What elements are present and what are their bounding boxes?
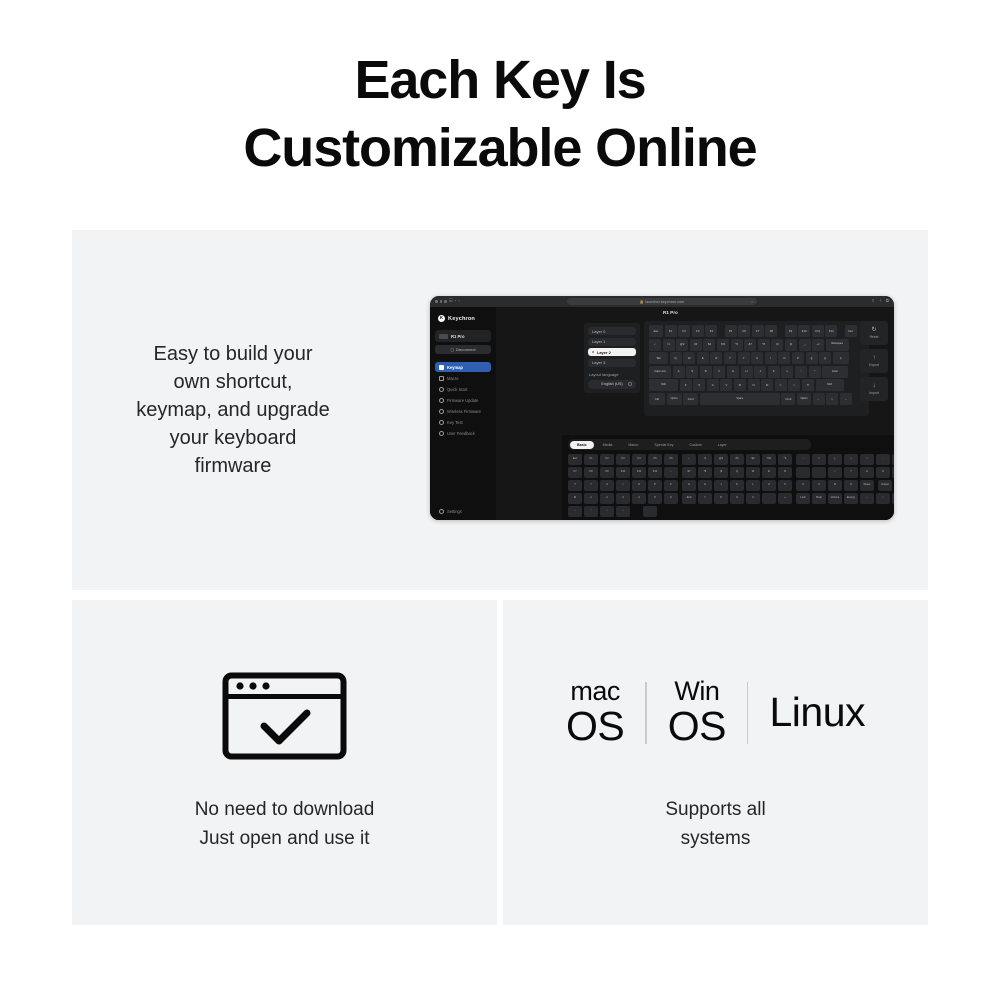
os-macos-top: mac	[570, 678, 620, 705]
keycap[interactable]: F7	[752, 325, 764, 337]
device-name: R1 Pro	[451, 334, 465, 339]
picker-key[interactable]: F11	[632, 467, 646, 478]
keycap[interactable]: Shift	[649, 379, 678, 391]
keycap[interactable]: C	[707, 379, 719, 391]
picker-key[interactable]: Q	[730, 467, 744, 478]
firmware-update-icon	[439, 398, 444, 403]
keycap[interactable]: Space	[700, 393, 780, 405]
sidebar-item-label: Settings	[447, 509, 462, 514]
disconnect-label: Disconnect	[456, 347, 476, 352]
os-windows: Win OS	[668, 678, 726, 747]
action-label: Reset	[870, 335, 879, 339]
sidebar-item-label: Firmware Update	[447, 398, 478, 403]
picker-key[interactable]: ↑	[876, 493, 890, 504]
sidebar-item-label: User Feedback	[447, 431, 475, 436]
keycap[interactable]: {[	[806, 352, 818, 364]
gear-icon	[439, 509, 444, 514]
page-root: Each Key Is Customizable Online Easy to …	[0, 0, 1000, 1000]
export-icon: ↑	[873, 355, 876, 361]
share-icon[interactable]: ⇧	[871, 299, 875, 304]
keycap[interactable]: #3	[690, 339, 702, 351]
picker-key[interactable]: Lock	[796, 493, 810, 504]
key-picker-panel: BasicMediaMacroSpecial KeyCustomLayer Es…	[562, 435, 894, 520]
sidebar-item-wireless-firmware[interactable]: Wireless Firmware	[435, 406, 491, 416]
picker-key[interactable]: L	[746, 480, 760, 491]
picker-key[interactable]: =	[812, 454, 826, 465]
picker-key[interactable]: N	[844, 480, 858, 491]
keycap[interactable]: *8	[758, 339, 770, 351]
keycap[interactable]: F	[713, 366, 725, 378]
picker-row: M123456End7890.+LockMuteVolumeEnergy←↑→	[568, 493, 888, 504]
keycap[interactable]: J	[754, 366, 766, 378]
sidebar-item-keymap[interactable]: Keymap	[435, 362, 491, 372]
keyboard-row: EscF1F2F3F4F5F6F7F8F9F10F11F12Del	[649, 325, 864, 337]
window-close-icon[interactable]	[435, 300, 438, 303]
key-test-icon	[439, 420, 444, 425]
picker-group: TYUIOPF	[568, 480, 678, 491]
picker-key[interactable]: ~`	[682, 454, 696, 465]
picker-group: M123456	[568, 493, 678, 504]
page-title-line2: Customizable Online	[0, 114, 1000, 182]
keycap[interactable]: >.	[788, 379, 800, 391]
picker-key[interactable]: V	[812, 480, 826, 491]
caption-line: systems	[503, 824, 928, 853]
picker-key[interactable]: $4	[746, 454, 760, 465]
tabs-overview-icon[interactable]: ⧉	[886, 299, 889, 304]
os-windows-bottom: OS	[668, 706, 726, 747]
picker-key[interactable]: ^6	[778, 454, 792, 465]
keycap[interactable]: <,	[775, 379, 787, 391]
top-card-copy-line: Easy to build your	[88, 340, 378, 368]
picker-key[interactable]: 7	[698, 493, 712, 504]
keycap[interactable]: E	[697, 352, 709, 364]
keycap[interactable]: F6	[738, 325, 750, 337]
picker-key[interactable]: A	[860, 467, 874, 478]
picker-key[interactable]: F4	[632, 454, 646, 465]
plug-icon: ◻	[450, 348, 453, 352]
picker-key[interactable]: H	[698, 480, 712, 491]
browser-window-controls[interactable]: ☰ ‹ ›	[435, 299, 460, 304]
keycap[interactable]: Ctrl	[649, 393, 665, 405]
picker-key[interactable]: ←	[664, 467, 678, 478]
picker-key[interactable]: F2	[600, 454, 614, 465]
new-tab-icon[interactable]: +	[879, 299, 882, 304]
keycap[interactable]: ?/	[802, 379, 814, 391]
reset-icon: ↻	[871, 327, 876, 333]
keycap[interactable]: @2	[676, 339, 688, 351]
key-picker-grid: EscF1F2F3F4F5F6~`!1@2#3$4%5^6-=[]\;'InsP…	[568, 454, 888, 517]
picker-key[interactable]: -	[796, 454, 810, 465]
chevron-down-icon	[628, 382, 632, 386]
keycap[interactable]: &7	[744, 339, 756, 351]
picker-key[interactable]: ?	[844, 467, 858, 478]
keycap[interactable]: D	[700, 366, 712, 378]
caption-line: Just open and use it	[72, 824, 497, 853]
keycap[interactable]: Enter	[822, 366, 848, 378]
keycap[interactable]: H	[741, 366, 753, 378]
picker-group: ←↑↓→	[568, 506, 630, 517]
picker-group: &7*8(9QWER	[682, 467, 792, 478]
picker-key[interactable]: Energy	[844, 493, 858, 504]
picker-key[interactable]: %5	[762, 454, 776, 465]
sidebar-item-macro[interactable]: Macro	[435, 373, 491, 383]
picker-tab-basic[interactable]: Basic	[570, 441, 594, 449]
picker-key[interactable]: #3	[730, 454, 744, 465]
layer-label: Layer 1	[592, 339, 605, 344]
forward-icon[interactable]: ›	[458, 299, 460, 304]
picker-group: LockMuteVolumeEnergy←↑→	[796, 493, 894, 504]
picker-key[interactable]: F6	[664, 454, 678, 465]
picker-tab-custom[interactable]: Custom	[682, 441, 708, 449]
keycap[interactable]: Q	[670, 352, 682, 364]
layout-language-select[interactable]: English (US)	[588, 380, 636, 389]
os-macos-bottom: OS	[566, 706, 624, 747]
keycap[interactable]: F2	[678, 325, 690, 337]
picker-key[interactable]: X	[778, 480, 792, 491]
action-label: Export	[869, 363, 879, 367]
picker-key[interactable]: ←	[860, 493, 874, 504]
back-icon[interactable]: ‹	[455, 299, 457, 304]
os-macos: mac OS	[566, 678, 624, 747]
keycap[interactable]: F4	[705, 325, 717, 337]
picker-key[interactable]: .	[762, 493, 776, 504]
keycap[interactable]: F11	[812, 325, 824, 337]
picker-key[interactable]: &7	[682, 467, 696, 478]
picker-key[interactable]: 4	[632, 493, 646, 504]
top-card-copy-line: keymap, and upgrade	[88, 396, 378, 424]
keycap[interactable]: M	[761, 379, 773, 391]
picker-key[interactable]: D	[892, 467, 894, 478]
key-gap	[719, 325, 723, 337]
browser-window-check-icon	[222, 672, 347, 760]
keycap[interactable]: Y	[738, 352, 750, 364]
picker-key[interactable]: F5	[648, 454, 662, 465]
user-feedback-icon	[439, 431, 444, 436]
keycap[interactable]: O	[778, 352, 790, 364]
keycap[interactable]: "'	[809, 366, 821, 378]
keycap[interactable]: Del	[845, 325, 857, 337]
app-body: K Keychron R1 Pro ◻ Disconnect KeymapMac…	[430, 307, 894, 520]
keycap[interactable]: F1	[665, 325, 677, 337]
sidebar-item-key-test[interactable]: Key Test	[435, 417, 491, 427]
bookmark-icon[interactable]: ☆	[751, 300, 754, 304]
sidebar-item-user-feedback[interactable]: User Feedback	[435, 428, 491, 438]
picker-key[interactable]: F8	[584, 467, 598, 478]
keycap[interactable]: %5	[717, 339, 729, 351]
picker-key[interactable]: 3	[616, 493, 630, 504]
keycap[interactable]: +=	[812, 339, 824, 351]
picker-key[interactable]: 1	[584, 493, 598, 504]
picker-key[interactable]: ←	[568, 506, 582, 517]
picker-key[interactable]: K	[730, 480, 744, 491]
picker-key[interactable]: ↓	[600, 506, 614, 517]
picker-key[interactable]: Y	[584, 480, 598, 491]
picker-tab-layer[interactable]: Layer	[711, 441, 734, 449]
sidebar-item-label: Macro	[447, 376, 458, 381]
keycap[interactable]: Shift	[816, 379, 844, 391]
reset-button[interactable]: ↻Reset	[860, 321, 888, 345]
layout-language-label: Layout language	[589, 372, 636, 377]
picker-group: F7F8F9F10F11F12←	[568, 467, 678, 478]
os-windows-top: Win	[674, 678, 719, 705]
picker-key[interactable]: 0	[746, 493, 760, 504]
keyboard-row: ShiftZXCVBNM<,>.?/Shift	[649, 379, 864, 391]
layer-button-1[interactable]: Layer 1	[588, 338, 636, 346]
keycap[interactable]: )0	[785, 339, 797, 351]
keycap[interactable]: Tab	[649, 352, 668, 364]
keycap[interactable]: ↑↓	[826, 393, 838, 405]
picker-key[interactable]: P	[648, 480, 662, 491]
picker-key[interactable]: 6	[664, 493, 678, 504]
sidebar-item-label: Quick Start	[447, 387, 467, 392]
import-button[interactable]: ↓Import	[860, 377, 888, 401]
picker-key[interactable]: +	[778, 493, 792, 504]
feature-card-bottom-left	[72, 600, 497, 925]
sidebar-item-label: Key Test	[447, 420, 463, 425]
picker-key[interactable]: F3	[616, 454, 630, 465]
picker-key[interactable]: F10	[616, 467, 630, 478]
picker-key[interactable]: @2	[714, 454, 728, 465]
layer-label: Layer 2	[597, 350, 611, 355]
layer-label: Layer 0	[592, 329, 605, 334]
window-maximize-icon[interactable]	[444, 300, 447, 303]
picker-key[interactable]: O	[632, 480, 646, 491]
keycap[interactable]: P	[792, 352, 804, 364]
picker-key[interactable]: .	[812, 467, 826, 478]
picker-key[interactable]: Reset	[860, 480, 874, 491]
picker-key[interactable]: M	[568, 493, 582, 504]
picker-key[interactable]: [	[828, 454, 842, 465]
picker-group: End7890.+	[682, 493, 792, 504]
keycap[interactable]: Z	[680, 379, 692, 391]
picker-tab-media[interactable]: Media	[596, 441, 620, 449]
picker-key[interactable]	[643, 506, 657, 517]
sidebar-nav-bottom: Settings	[435, 506, 491, 516]
keycap[interactable]: Cmd	[781, 393, 795, 405]
layout-language-value: English (US)	[601, 382, 622, 386]
keycap[interactable]: Caps Lock	[649, 366, 671, 378]
keycap[interactable]: :;	[795, 366, 807, 378]
picker-key[interactable]: Output	[878, 480, 892, 491]
picker-key[interactable]: B	[828, 480, 842, 491]
picker-key[interactable]: U	[600, 480, 614, 491]
keycap[interactable]: F5	[725, 325, 737, 337]
keycap[interactable]: Esc	[649, 325, 663, 337]
picker-key[interactable]: W	[746, 467, 760, 478]
address-bar[interactable]: 🔒 launcher.keychron.com ☆	[567, 298, 757, 305]
picker-key[interactable]: E	[762, 467, 776, 478]
sidebar-item-label: Keymap	[447, 365, 463, 370]
export-button[interactable]: ↑Export	[860, 349, 888, 373]
sidebar-item-firmware-update[interactable]: Firmware Update	[435, 395, 491, 405]
browser-toolbar-right[interactable]: ⇧ + ⧉	[871, 299, 889, 304]
picker-key[interactable]: R	[778, 467, 792, 478]
import-icon: ↓	[873, 383, 876, 389]
divider	[645, 682, 647, 744]
sidebar-toggle-icon[interactable]: ☰	[449, 299, 453, 304]
picker-group: EscF1F2F3F4F5F6	[568, 454, 678, 465]
keycap[interactable]: A	[673, 366, 685, 378]
top-card-copy-line: own shortcut,	[88, 368, 378, 396]
keycap[interactable]: V	[720, 379, 732, 391]
picker-key[interactable]: 8	[714, 493, 728, 504]
keycap[interactable]: ←	[813, 393, 825, 405]
keycap[interactable]: F8	[765, 325, 777, 337]
picker-key[interactable]: 2	[600, 493, 614, 504]
keycap[interactable]: F10	[798, 325, 810, 337]
picker-key[interactable]: \	[860, 454, 874, 465]
os-linux-label: Linux	[769, 692, 865, 733]
layer-button-2[interactable]: Layer 2	[588, 348, 636, 356]
picker-key[interactable]: End	[682, 493, 696, 504]
keyboard-title: R1 Pro	[663, 310, 678, 315]
page-title: Each Key Is Customizable Online	[0, 46, 1000, 182]
keycap[interactable]: I	[765, 352, 777, 364]
picker-row: TYUIOPFGHJKLZXCVBNResetOutputLSHIFTRSHIF…	[568, 480, 888, 491]
keycap[interactable]: →	[840, 393, 852, 405]
picker-group: ,./?ASD	[796, 467, 894, 478]
sidebar-item-label: Wireless Firmware	[447, 409, 481, 414]
picker-group: ~`!1@2#3$4%5^6	[682, 454, 792, 465]
top-card-copy-line: firmware	[88, 452, 378, 480]
brand-name: Keychron	[448, 316, 475, 322]
picker-tab-macro[interactable]: Macro	[621, 441, 645, 449]
lock-icon: 🔒	[640, 300, 644, 304]
picker-row: EscF1F2F3F4F5F6~`!1@2#3$4%5^6-=[]\;'InsP…	[568, 454, 888, 465]
picker-key[interactable]: F1	[584, 454, 598, 465]
picker-key[interactable]: Volume	[828, 493, 842, 504]
picker-key[interactable]: →	[616, 506, 630, 517]
picker-key[interactable]: /	[828, 467, 842, 478]
keycap[interactable]: N	[748, 379, 760, 391]
picker-key[interactable]: T	[568, 480, 582, 491]
picker-key[interactable]: F9	[600, 467, 614, 478]
sidebar-nav: KeymapMacroQuick StartFirmware UpdateWir…	[435, 362, 491, 438]
picker-key[interactable]: '	[892, 454, 894, 465]
picker-group: OutputLSHIFTRSHIFTLCtrlRCtrlLWinRWin	[878, 480, 894, 491]
picker-key[interactable]: J	[714, 480, 728, 491]
caption-line: No need to download	[72, 795, 497, 824]
keycap[interactable]: $4	[703, 339, 715, 351]
keycap[interactable]: F9	[785, 325, 797, 337]
picker-key[interactable]: Mute	[812, 493, 826, 504]
picker-key[interactable]: ,	[796, 467, 810, 478]
caption-line: Supports all	[503, 795, 928, 824]
keyboard-row: Caps LockASDFGHJKL:;"'Enter	[649, 366, 864, 378]
picker-key[interactable]: Esc	[568, 454, 582, 465]
keycap[interactable]: !1	[663, 339, 675, 351]
address-bar-url: launcher.keychron.com	[645, 300, 684, 304]
keycap[interactable]: Backspace	[826, 339, 849, 351]
keycap[interactable]: U	[751, 352, 763, 364]
top-card-copy-line: your keyboard	[88, 424, 378, 452]
keycap[interactable]: R	[710, 352, 722, 364]
picker-key[interactable]: ↑	[584, 506, 598, 517]
picker-key[interactable]: *8	[698, 467, 712, 478]
sidebar-item-settings[interactable]: Settings	[435, 506, 491, 516]
sidebar-item-quick-start[interactable]: Quick Start	[435, 384, 491, 394]
picker-key[interactable]: →	[892, 493, 894, 504]
window-minimize-icon[interactable]	[440, 300, 443, 303]
key-picker-tabs: BasicMediaMacroSpecial KeyCustomLayer	[568, 439, 811, 450]
feature-card-bottom-right	[503, 600, 928, 925]
picker-key[interactable]: F12	[648, 467, 662, 478]
picker-group: CVBNReset	[796, 480, 874, 491]
app-window-screenshot: ☰ ‹ › 🔒 launcher.keychron.com ☆ ⇧ + ⧉ K …	[430, 296, 894, 520]
keymap-icon	[439, 365, 444, 370]
app-main: R1 Pro Layer 0Layer 1Layer 2Layer 3 Layo…	[496, 307, 894, 520]
picker-group: GHJKLZX	[682, 480, 792, 491]
layer-button-0[interactable]: Layer 0	[588, 327, 636, 335]
picker-key[interactable]: I	[616, 480, 630, 491]
picker-key[interactable]: (9	[714, 467, 728, 478]
keyboard-preview[interactable]: EscF1F2F3F4F5F6F7F8F9F10F11F12Del~`!1@2#…	[644, 321, 869, 416]
keycap[interactable]: X	[693, 379, 705, 391]
keycap[interactable]: ^6	[731, 339, 743, 351]
picker-key[interactable]: !1	[698, 454, 712, 465]
divider	[747, 682, 749, 744]
keycap[interactable]: Option	[667, 393, 682, 405]
keycap[interactable]: K	[768, 366, 780, 378]
picker-key[interactable]: F7	[568, 467, 582, 478]
keycap[interactable]: L	[781, 366, 793, 378]
keycap[interactable]: Cmd	[683, 393, 698, 405]
device-selector[interactable]: R1 Pro	[435, 330, 491, 342]
keycap[interactable]: (9	[771, 339, 783, 351]
picker-key[interactable]: G	[682, 480, 696, 491]
layer-button-3[interactable]: Layer 3	[588, 359, 636, 367]
keyboard-row: TabQWERTYUIOP{[}]|\	[649, 352, 864, 364]
picker-key[interactable]: F	[664, 480, 678, 491]
picker-key[interactable]: 5	[648, 493, 662, 504]
picker-key[interactable]: 9	[730, 493, 744, 504]
keycap[interactable]: |\	[833, 352, 849, 364]
keycap[interactable]: S	[686, 366, 698, 378]
picker-key[interactable]: S	[876, 467, 890, 478]
bottom-right-caption: Supports all systems	[503, 795, 928, 853]
keyboard-thumbnail-icon	[439, 334, 448, 339]
brand-logo: K Keychron	[438, 315, 491, 322]
app-sidebar: K Keychron R1 Pro ◻ Disconnect KeymapMac…	[430, 307, 496, 520]
keychron-logo-icon: K	[438, 315, 445, 322]
os-support-row: mac OS Win OS Linux	[503, 678, 928, 747]
picker-key[interactable]: C	[796, 480, 810, 491]
keycap[interactable]: }]	[819, 352, 831, 364]
picker-key[interactable]: ]	[844, 454, 858, 465]
disconnect-button[interactable]: ◻ Disconnect	[435, 345, 491, 354]
keycap[interactable]: T	[724, 352, 736, 364]
picker-key[interactable]: ;	[876, 454, 890, 465]
picker-row: F7F8F9F10F11F12←&7*8(9QWER,./?ASDHomeGen…	[568, 467, 888, 478]
picker-tab-special-key[interactable]: Special Key	[647, 441, 680, 449]
keycap[interactable]: _-	[799, 339, 811, 351]
keycap[interactable]: G	[727, 366, 739, 378]
key-gap	[839, 325, 843, 337]
keycap[interactable]: F12	[825, 325, 837, 337]
keycap[interactable]: B	[734, 379, 746, 391]
os-linux: Linux	[769, 692, 865, 733]
keycap[interactable]: Option	[797, 393, 811, 405]
layer-label: Layer 3	[592, 360, 605, 365]
keycap[interactable]: W	[683, 352, 695, 364]
quick-start-icon	[439, 387, 444, 392]
picker-group: -=[]\;'	[796, 454, 894, 465]
keycap[interactable]: ~`	[649, 339, 661, 351]
picker-group	[643, 506, 657, 517]
keycap[interactable]: F3	[692, 325, 704, 337]
wireless-firmware-icon	[439, 409, 444, 414]
picker-key[interactable]: Z	[762, 480, 776, 491]
